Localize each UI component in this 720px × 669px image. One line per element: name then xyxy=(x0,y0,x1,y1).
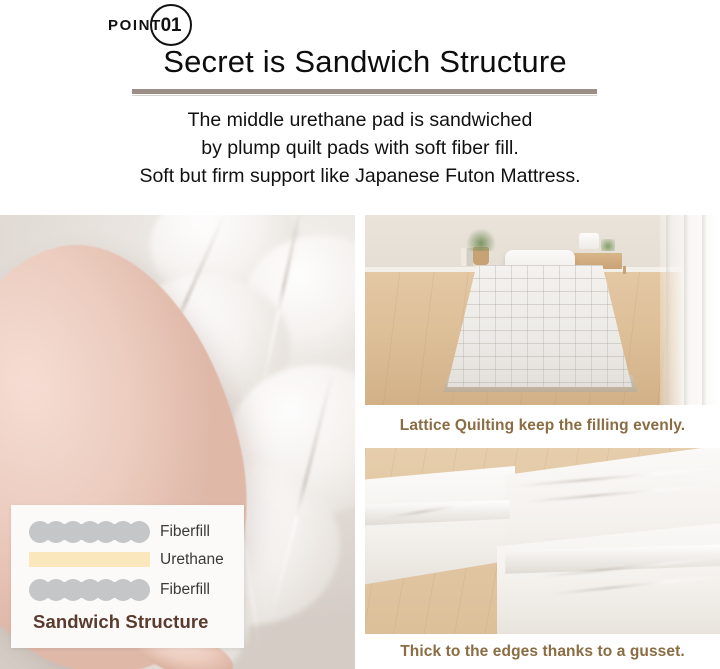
fiberfill-bar-icon xyxy=(29,579,150,601)
curtain-fold xyxy=(666,215,671,405)
fiberfill-bar-icon xyxy=(29,521,150,543)
futon-room-image xyxy=(365,215,720,405)
subcopy-line-1: The middle urethane pad is sandwiched xyxy=(0,106,720,134)
photo-futon-in-room xyxy=(365,215,720,405)
futon-mattress xyxy=(447,265,632,387)
point-number: 01 xyxy=(161,16,182,35)
subcopy-block: The middle urethane pad is sandwiched by… xyxy=(0,106,720,190)
divider-bar-primary xyxy=(132,89,597,94)
point-badge: POINT 01 xyxy=(108,6,192,44)
caption-gusset-text: Thick to the edges thanks to a gusset. xyxy=(365,643,720,661)
layer-label-urethane: Urethane xyxy=(160,552,224,568)
caption-lattice-text: Lattice Quilting keep the filling evenly… xyxy=(365,417,720,435)
table-lamp xyxy=(579,233,599,249)
subcopy-line-3: Soft but firm support like Japanese Futo… xyxy=(0,162,720,190)
sandwich-structure-callout: Fiberfill Urethane Fiberfill Sandwich St… xyxy=(11,505,244,648)
curtain-fold xyxy=(684,215,689,405)
plant-leaves xyxy=(465,225,497,251)
caption-gusset-band: Thick to the edges thanks to a gusset. xyxy=(365,634,720,669)
window-curtain xyxy=(660,215,720,405)
product-feature-page: POINT 01 Secret is Sandwich Structure Th… xyxy=(0,0,720,669)
layer-row-fiberfill-top: Fiberfill xyxy=(29,521,210,543)
layer-label-fiberfill-top: Fiberfill xyxy=(160,524,210,540)
header-section: POINT 01 Secret is Sandwich Structure Th… xyxy=(0,0,720,215)
lattice-quilting xyxy=(447,265,632,387)
scallop xyxy=(128,521,150,543)
caption-lattice-band: Lattice Quilting keep the filling evenly… xyxy=(365,405,720,447)
scallop xyxy=(128,579,150,601)
layer-label-fiberfill-bottom: Fiberfill xyxy=(160,582,210,598)
divider-bar-secondary xyxy=(132,95,597,96)
callout-title: Sandwich Structure xyxy=(33,611,209,633)
gusset-edge-image xyxy=(365,448,720,634)
title-divider xyxy=(132,89,597,96)
point-number-circle: 01 xyxy=(150,4,192,46)
urethane-bar-icon xyxy=(29,552,150,567)
small-plant xyxy=(601,239,615,251)
subcopy-line-2: by plump quilt pads with soft fiber fill… xyxy=(0,134,720,162)
curtain-fold xyxy=(702,215,707,405)
photo-gusset-edge xyxy=(365,448,720,634)
page-title: Secret is Sandwich Structure xyxy=(0,44,720,80)
layer-row-fiberfill-bottom: Fiberfill xyxy=(29,579,210,601)
layer-row-urethane: Urethane xyxy=(29,552,224,568)
